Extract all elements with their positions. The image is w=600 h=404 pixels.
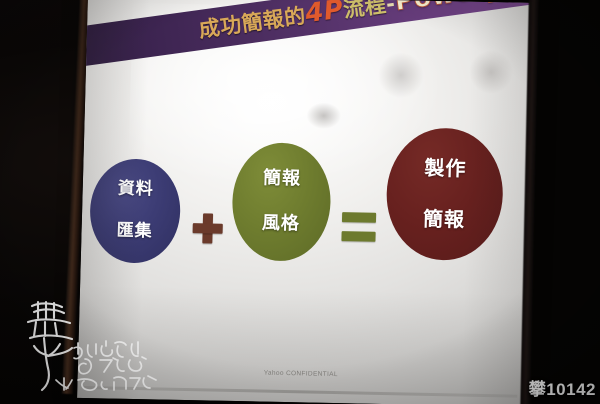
title-highlight-4p: 4P — [304, 0, 346, 29]
equation-term-1-line-2: 匯集 — [116, 222, 153, 242]
title-chinese-tail: 流程 — [342, 0, 388, 22]
equation-term-1-line-1: 資料 — [117, 180, 154, 200]
projection-screen: 成功簡報的4P流程-Powerpoint 資料 匯集 簡報 風格 製作 簡報 Y… — [77, 0, 534, 404]
equation-result-line-2: 簡報 — [423, 208, 466, 232]
equation-result-line-1: 製作 — [424, 157, 467, 181]
plus-operator-icon — [192, 213, 223, 244]
title-chinese-lead: 成功簡報的 — [197, 4, 307, 42]
equation-result-bubble: 製作 簡報 — [385, 127, 505, 261]
equation-term-2-line-1: 簡報 — [263, 169, 302, 190]
photo-counter-overlay: 攀10142 — [529, 381, 596, 398]
slide-equation-diagram: 資料 匯集 簡報 風格 製作 簡報 — [88, 106, 523, 295]
equation-term-2-bubble: 簡報 風格 — [231, 142, 332, 262]
equation-term-1-bubble: 資料 匯集 — [89, 158, 182, 264]
equals-operator-icon — [341, 212, 376, 243]
equation-term-2-line-2: 風格 — [262, 214, 301, 235]
photograph: 成功簡報的4P流程-Powerpoint 資料 匯集 簡報 風格 製作 簡報 Y… — [0, 0, 600, 404]
